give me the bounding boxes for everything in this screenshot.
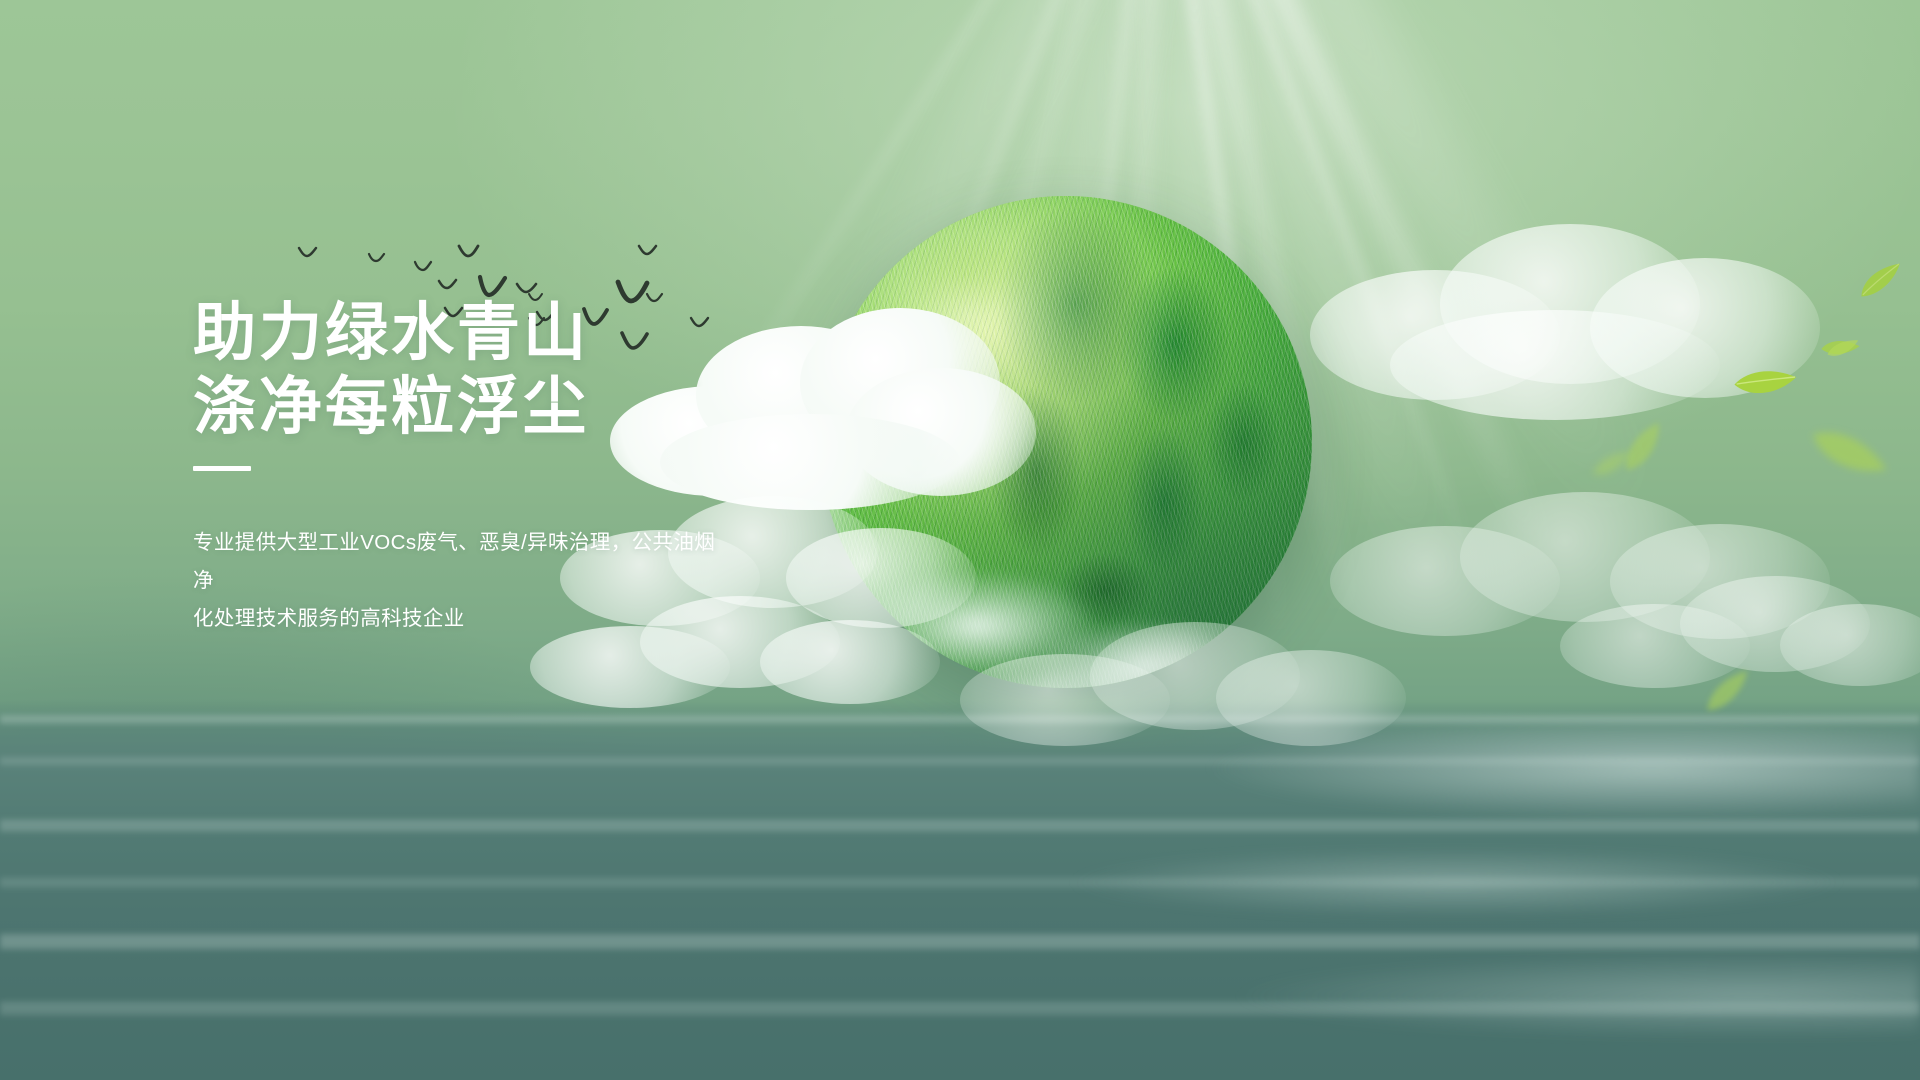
page-title: 助力绿水青山 涤净每粒浮尘 [193, 296, 953, 444]
hero-banner: 助力绿水青山 涤净每粒浮尘 专业提供大型工业VOCs废气、恶臭/异味治理，公共油… [0, 0, 1920, 1080]
bird-icon [458, 245, 480, 259]
water-glare [700, 700, 1920, 1080]
bird-icon [638, 245, 658, 257]
description-line-1: 专业提供大型工业VOCs废气、恶臭/异味治理，公共油烟净 [193, 524, 733, 600]
description-line-2: 化处理技术服务的高科技企业 [193, 600, 733, 638]
bird-icon [298, 247, 318, 259]
bird-icon [438, 279, 458, 291]
leaf-icon [1825, 338, 1861, 359]
headline-line-2: 涤净每粒浮尘 [193, 370, 953, 444]
banner-description: 专业提供大型工业VOCs废气、恶臭/异味治理，公共油烟净 化处理技术服务的高科技… [193, 524, 733, 638]
bird-icon [368, 253, 386, 264]
title-divider [193, 466, 251, 471]
hero-copy-block: 助力绿水青山 涤净每粒浮尘 专业提供大型工业VOCs废气、恶臭/异味治理，公共油… [193, 296, 953, 638]
headline-line-1: 助力绿水青山 [193, 296, 953, 370]
bird-icon [414, 261, 433, 273]
